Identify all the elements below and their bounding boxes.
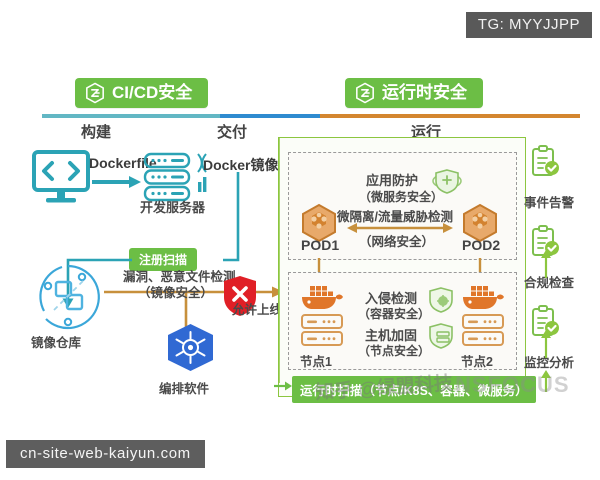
- arrow-dockerfile-to-server: [92, 175, 144, 189]
- timeline-label-deliver: 交付: [217, 121, 247, 142]
- timeline-label-build: 构建: [81, 121, 111, 142]
- intrusion-detection-sub: （容器安全）: [358, 305, 430, 322]
- orchestrator-label: 编排软件: [159, 378, 209, 397]
- section-pill-cicd: CI/CD安全: [75, 78, 208, 108]
- clipboard-check-icon: [530, 145, 560, 179]
- tg-badge: TG: MYYJJPP: [466, 12, 592, 38]
- server-rack-icon: [143, 152, 191, 202]
- kubernetes-icon: [163, 322, 218, 380]
- server-rack-icon: [461, 313, 505, 349]
- host-hardening-sub: （节点安全）: [358, 342, 430, 359]
- section-pill-runtime-label: 运行时安全: [382, 78, 467, 108]
- url-badge: cn-site-web-kaiyun.com: [6, 440, 205, 468]
- timeline-segment-run: [320, 114, 580, 118]
- docker-whale-icon: [298, 282, 344, 312]
- micro-isolation-sub: （网络安全）: [359, 231, 434, 250]
- timeline-segment-build: [42, 114, 220, 118]
- server-rack-icon: [300, 313, 344, 349]
- diagram-canvas: TG: MYYJJPP CI/CD安全 运行时安全 构: [0, 0, 600, 480]
- arrow-compliance-to-event: [540, 250, 552, 278]
- timeline-segment-deliver: [220, 114, 320, 118]
- container-shield-icon: [428, 286, 454, 314]
- node2-label: 节点2: [461, 351, 493, 370]
- image-registry-icon: [32, 262, 104, 332]
- pod1-label: POD1: [301, 237, 339, 253]
- pod2-label: POD2: [462, 237, 500, 253]
- docker-whale-icon: [459, 282, 505, 312]
- microservice-shield-icon: [432, 167, 462, 195]
- host-shield-icon: [428, 322, 454, 350]
- runtime-boundary-feed-line: [276, 137, 282, 385]
- arrow-scanbar-to-monitoring: [540, 370, 552, 392]
- app-protect-sub: （微服务安全）: [359, 188, 443, 205]
- code-monitor-icon: [32, 150, 90, 205]
- runtime-scan-bar: 运行时扫描（节点/K8S、容器、微服务）: [292, 376, 536, 403]
- hexagon-shield-icon: [85, 82, 105, 104]
- section-pill-cicd-label: CI/CD安全: [112, 78, 192, 108]
- dev-server-label: 开发服务器: [140, 197, 205, 216]
- registry-label: 镜像仓库: [31, 332, 81, 351]
- runtime-scan-label: 运行时扫描（节点/K8S、容器、微服务）: [292, 376, 536, 403]
- node1-label: 节点1: [300, 351, 332, 370]
- scan-line-sub: （镜像安全）: [138, 282, 213, 301]
- section-pill-runtime: 运行时安全: [345, 78, 483, 108]
- event-alert-label: 事件告警: [524, 192, 574, 211]
- hexagon-shield-icon: [355, 82, 375, 104]
- arrow-monitoring-to-compliance: [540, 330, 552, 358]
- app-protect-title: 应用防护: [366, 170, 418, 189]
